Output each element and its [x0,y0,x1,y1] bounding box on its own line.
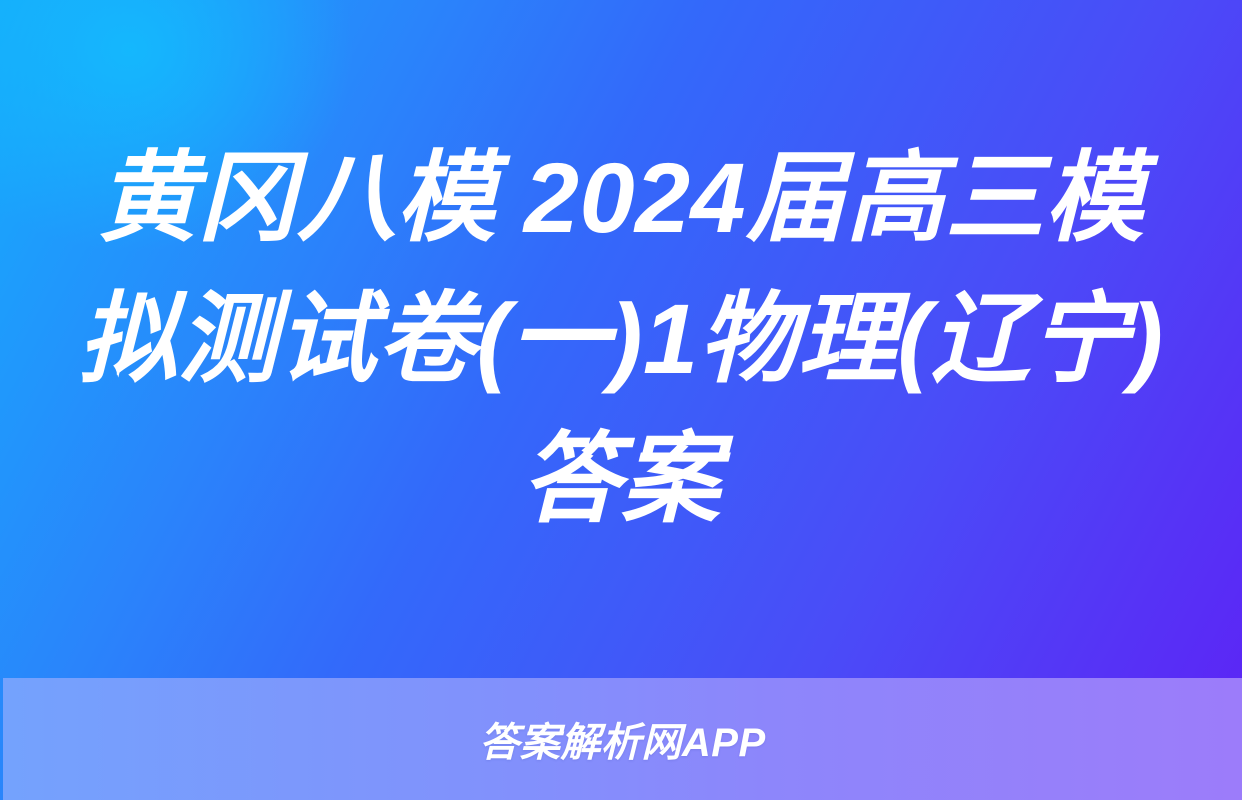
page-title: 黄冈八模 2024届高三模拟测试卷(一)1物理(辽宁)答案 [74,128,1168,550]
title-area: 黄冈八模 2024届高三模拟测试卷(一)1物理(辽宁)答案 [0,0,1242,678]
watermark-band: 答案解析网APP [3,678,1242,800]
promo-banner: 黄冈八模 2024届高三模拟测试卷(一)1物理(辽宁)答案 答案解析网APP [0,0,1242,800]
app-watermark-label: 答案解析网APP [479,710,765,768]
